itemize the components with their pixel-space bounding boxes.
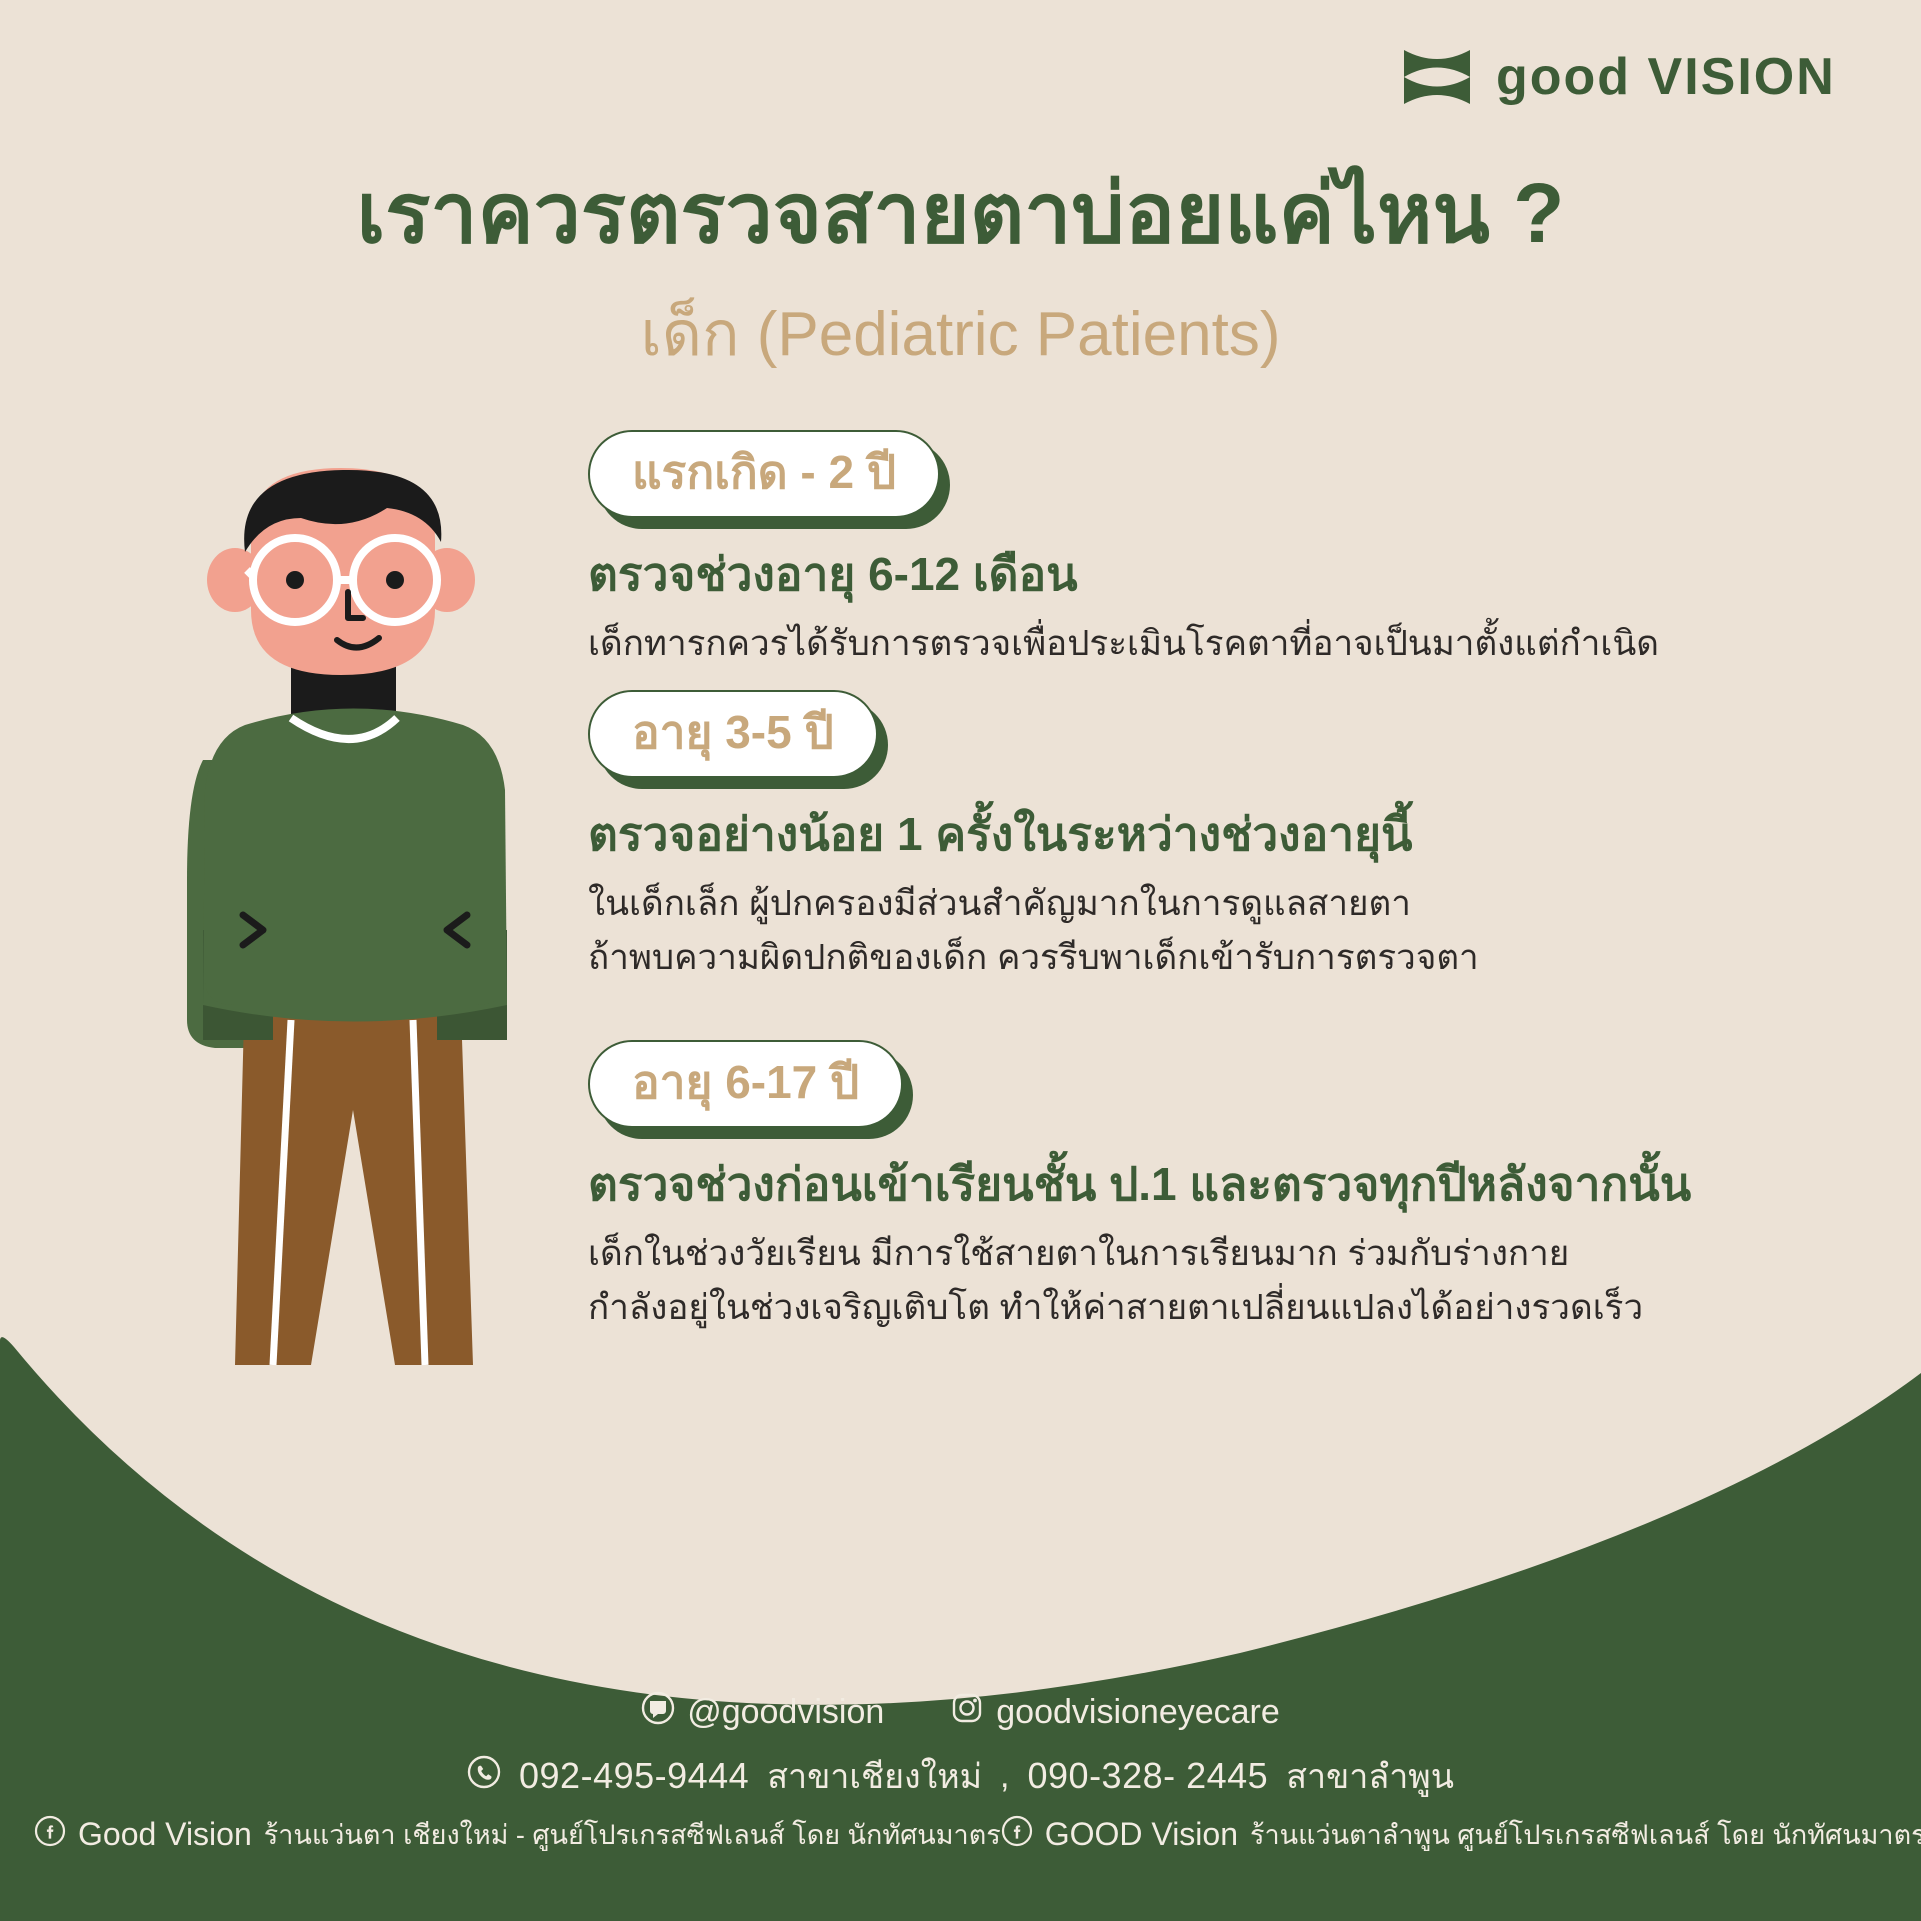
page-subtitle: เด็ก (Pediatric Patients) xyxy=(0,298,1921,372)
phone-icon xyxy=(467,1755,501,1798)
facebook-page-left[interactable]: Good Vision ร้านแว่นตา เชียงใหม่ - ศูนย์… xyxy=(34,1813,1001,1856)
facebook-icon xyxy=(1001,1815,1033,1854)
facebook-icon xyxy=(34,1815,66,1854)
facebook-brand-right: GOOD Vision xyxy=(1045,1816,1238,1853)
section-body: เด็กทารกควรได้รับการตรวจเพื่อประเมินโรคต… xyxy=(588,617,1888,671)
poster-root: good VISION เราควรตรวจสายตาบ่อยแค่ไหน ? … xyxy=(0,0,1921,1921)
body-line: เด็กทารกควรได้รับการตรวจเพื่อประเมินโรคต… xyxy=(588,617,1888,671)
instagram-account[interactable]: goodvisioneyecare xyxy=(950,1691,1280,1734)
footer: @goodvision goodvisioneyecare xyxy=(0,1661,1921,1921)
footer-social-row: @goodvision goodvisioneyecare xyxy=(0,1691,1921,1734)
logo-word-good: good xyxy=(1496,48,1631,106)
line-account[interactable]: @goodvision xyxy=(641,1691,884,1734)
body-line: ถ้าพบความผิดปกติของเด็ก ควรรีบพาเด็กเข้า… xyxy=(588,931,1888,985)
phone-separator: , xyxy=(1000,1757,1009,1796)
footer-facebook-row: Good Vision ร้านแว่นตา เชียงใหม่ - ศูนย์… xyxy=(0,1813,1921,1856)
child-illustration xyxy=(95,460,595,1450)
footer-phone-row: 092-495-9444 สาขาเชียงใหม่ , 090-328- 24… xyxy=(0,1749,1921,1803)
body-line: ในเด็กเล็ก ผู้ปกครองมีส่วนสำคัญมากในการด… xyxy=(588,877,1888,931)
facebook-page-right[interactable]: GOOD Vision ร้านแว่นตาลำพูน ศูนย์โปรเกรส… xyxy=(1001,1813,1921,1856)
brand-logo: good VISION xyxy=(1400,48,1836,106)
section-age-6-17: อายุ 6-17 ปี ตรวจช่วงก่อนเข้าเรียนชั้น ป… xyxy=(588,1040,1888,1336)
facebook-brand-left: Good Vision xyxy=(78,1816,252,1853)
section-heading: ตรวจอย่างน้อย 1 ครั้งในระหว่างช่วงอายุนี… xyxy=(588,806,1888,864)
page-title: เราควรตรวจสายตาบ่อยแค่ไหน ? xyxy=(0,168,1921,259)
phone-number-1: 092-495-9444 xyxy=(519,1755,749,1797)
phone-branch-1: สาขาเชียงใหม่ xyxy=(767,1749,982,1803)
logo-wordmark: good VISION xyxy=(1496,51,1836,103)
eye-bowtie-mark-icon xyxy=(1400,48,1474,106)
line-icon xyxy=(641,1691,675,1734)
section-age-3-5: อายุ 3-5 ปี ตรวจอย่างน้อย 1 ครั้งในระหว่… xyxy=(588,690,1888,986)
body-line: กำลังอยู่ในช่วงเจริญเติบโต ทำให้ค่าสายตา… xyxy=(588,1281,1888,1335)
body-line: เด็กในช่วงวัยเรียน มีการใช้สายตาในการเรี… xyxy=(588,1227,1888,1281)
section-body: เด็กในช่วงวัยเรียน มีการใช้สายตาในการเรี… xyxy=(588,1227,1888,1336)
section-body: ในเด็กเล็ก ผู้ปกครองมีส่วนสำคัญมากในการด… xyxy=(588,877,1888,986)
badge-age-range: อายุ 6-17 ปี xyxy=(588,1040,903,1128)
instagram-icon xyxy=(950,1691,984,1734)
facebook-detail-right: ร้านแว่นตาลำพูน ศูนย์โปรเกรสซีฟเลนส์ โดย… xyxy=(1250,1813,1921,1856)
logo-word-vision: VISION xyxy=(1648,48,1836,106)
section-heading: ตรวจช่วงอายุ 6-12 เดือน xyxy=(588,546,1888,604)
section-heading: ตรวจช่วงก่อนเข้าเรียนชั้น ป.1 และตรวจทุก… xyxy=(588,1156,1888,1214)
facebook-detail-left: ร้านแว่นตา เชียงใหม่ - ศูนย์โปรเกรสซีฟเล… xyxy=(264,1813,1001,1856)
phone-branch-2: สาขาลำพูน xyxy=(1286,1749,1454,1803)
phone-number-2: 090-328- 2445 xyxy=(1028,1755,1269,1797)
instagram-handle: goodvisioneyecare xyxy=(996,1693,1280,1732)
line-handle: @goodvision xyxy=(687,1693,884,1732)
section-newborn: แรกเกิด - 2 ปี ตรวจช่วงอายุ 6-12 เดือน เ… xyxy=(588,430,1888,671)
badge-age-range: แรกเกิด - 2 ปี xyxy=(588,430,940,518)
badge-age-range: อายุ 3-5 ปี xyxy=(588,690,878,778)
